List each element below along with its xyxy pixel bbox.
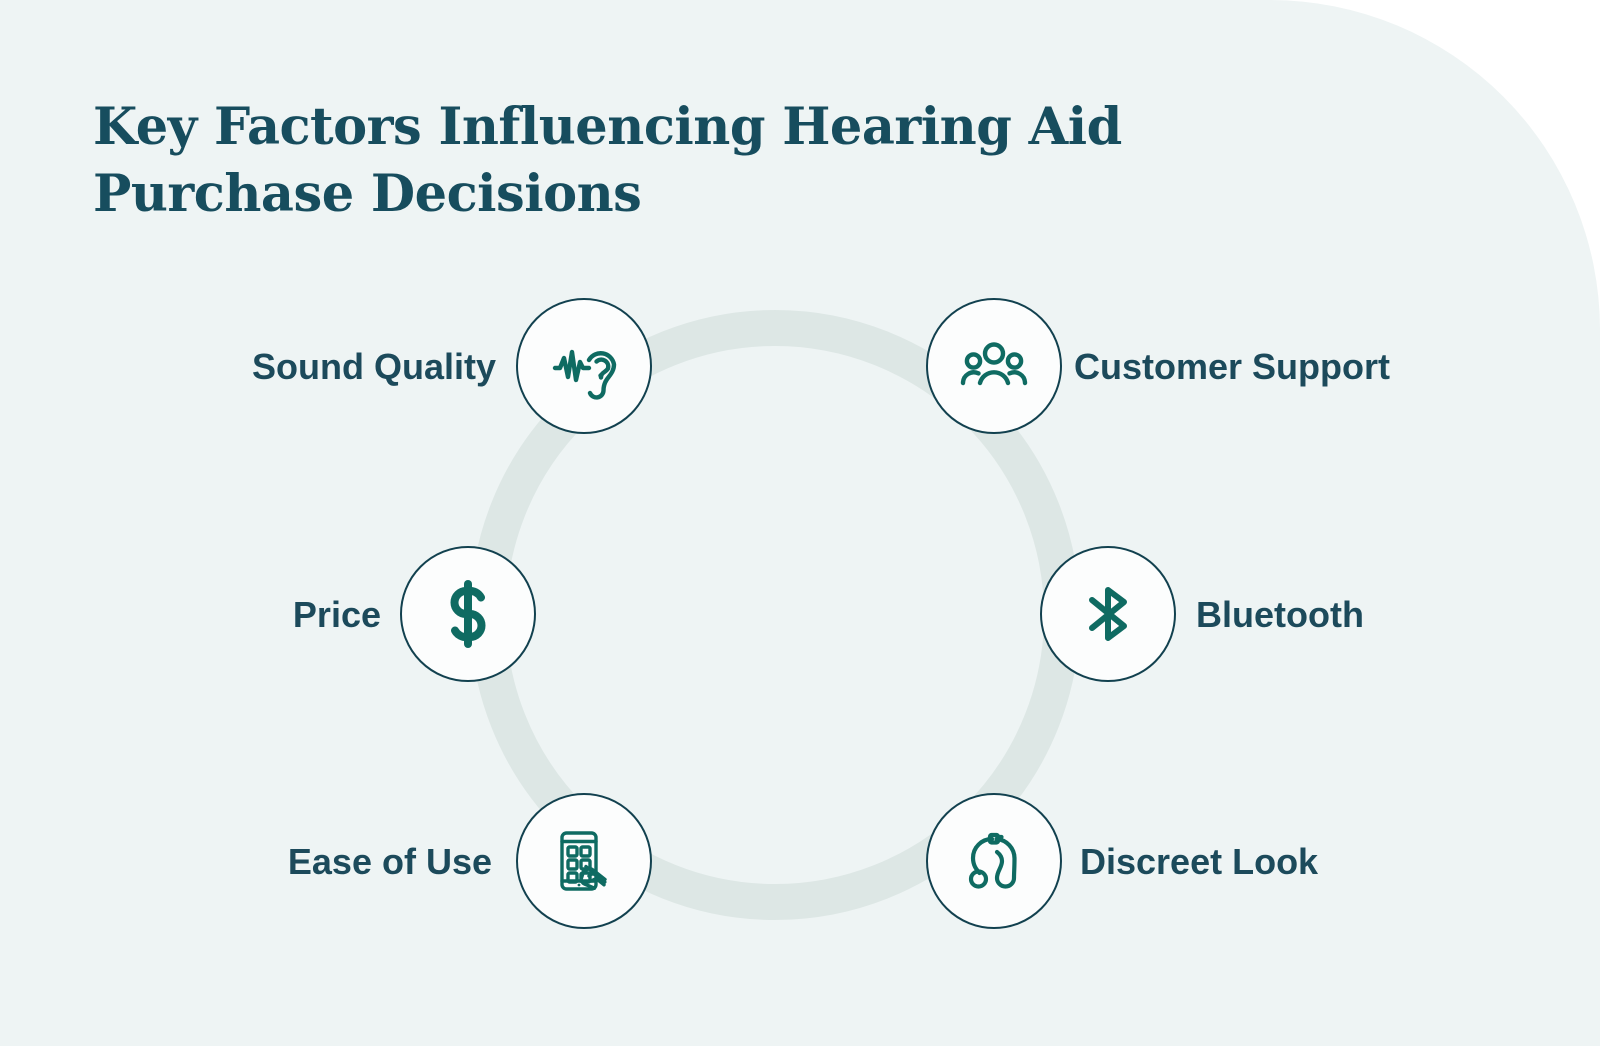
ear-soundwave-icon — [548, 330, 620, 402]
node-label-bluetooth: Bluetooth — [1196, 597, 1364, 633]
node-bluetooth[interactable] — [1040, 546, 1176, 682]
node-price[interactable] — [400, 546, 536, 682]
node-label-sound-quality: Sound Quality — [252, 349, 496, 385]
node-label-price: Price — [293, 597, 381, 633]
infographic-canvas: Key Factors Influencing Hearing Aid Purc… — [0, 0, 1600, 1046]
node-sound-quality[interactable] — [516, 298, 652, 434]
node-label-customer-support: Customer Support — [1074, 349, 1390, 385]
node-label-discreet-look: Discreet Look — [1080, 844, 1318, 880]
node-customer-support[interactable] — [926, 298, 1062, 434]
page-title: Key Factors Influencing Hearing Aid Purc… — [93, 94, 1143, 229]
people-group-icon — [958, 330, 1030, 402]
dollar-sign-icon — [432, 578, 504, 650]
node-label-ease-of-use: Ease of Use — [288, 844, 492, 880]
bluetooth-icon — [1072, 578, 1144, 650]
hearing-aid-icon — [958, 825, 1030, 897]
node-ease-of-use[interactable] — [516, 793, 652, 929]
smartphone-tap-icon — [548, 825, 620, 897]
node-discreet-look[interactable] — [926, 793, 1062, 929]
